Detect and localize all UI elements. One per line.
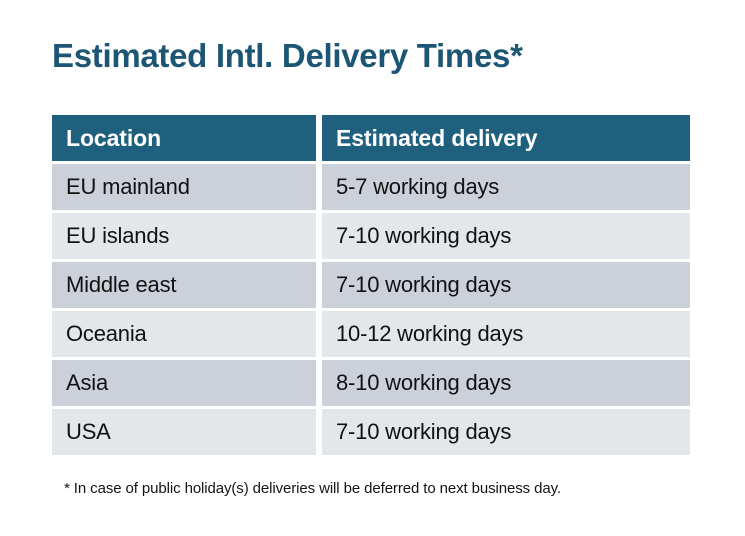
table-cell-delivery-text: 7-10 working days — [336, 223, 511, 249]
table-cell-location: Oceania — [52, 311, 316, 357]
table-cell-delivery: 7-10 working days — [322, 213, 690, 259]
table-header-cell-delivery: Estimated delivery — [322, 115, 690, 161]
table-cell-delivery-text: 7-10 working days — [336, 419, 511, 445]
table-cell-delivery-text: 10-12 working days — [336, 321, 523, 347]
table-cell-location: EU islands — [52, 213, 316, 259]
table-cell-location-text: Middle east — [66, 272, 176, 298]
table-cell-delivery: 10-12 working days — [322, 311, 690, 357]
table-row: USA 7-10 working days — [52, 409, 690, 455]
page-title: Estimated Intl. Delivery Times* — [52, 36, 523, 76]
table-cell-delivery: 8-10 working days — [322, 360, 690, 406]
table-row: EU islands 7-10 working days — [52, 213, 690, 259]
table-header-label-delivery: Estimated delivery — [336, 125, 537, 152]
table-header-row: Location Estimated delivery — [52, 115, 690, 161]
delivery-times-table: Location Estimated delivery EU mainland … — [52, 115, 690, 458]
table-cell-location-text: Asia — [66, 370, 108, 396]
table-row: Asia 8-10 working days — [52, 360, 690, 406]
table-cell-location: USA — [52, 409, 316, 455]
table-cell-location-text: Oceania — [66, 321, 147, 347]
table-cell-location-text: EU islands — [66, 223, 169, 249]
table-cell-delivery: 7-10 working days — [322, 262, 690, 308]
footnote-text: * In case of public holiday(s) deliverie… — [64, 480, 561, 497]
table-row: Middle east 7-10 working days — [52, 262, 690, 308]
table-cell-location: Asia — [52, 360, 316, 406]
table-row: EU mainland 5-7 working days — [52, 164, 690, 210]
table-header-label-location: Location — [66, 125, 161, 152]
table-cell-location-text: USA — [66, 419, 111, 445]
table-cell-delivery-text: 8-10 working days — [336, 370, 511, 396]
table-cell-delivery: 5-7 working days — [322, 164, 690, 210]
table-cell-delivery: 7-10 working days — [322, 409, 690, 455]
table-header-cell-location: Location — [52, 115, 316, 161]
table-row: Oceania 10-12 working days — [52, 311, 690, 357]
table-cell-location-text: EU mainland — [66, 174, 190, 200]
table-cell-delivery-text: 5-7 working days — [336, 174, 499, 200]
table-cell-delivery-text: 7-10 working days — [336, 272, 511, 298]
delivery-times-card: Estimated Intl. Delivery Times* Location… — [0, 0, 745, 536]
table-cell-location: Middle east — [52, 262, 316, 308]
table-cell-location: EU mainland — [52, 164, 316, 210]
